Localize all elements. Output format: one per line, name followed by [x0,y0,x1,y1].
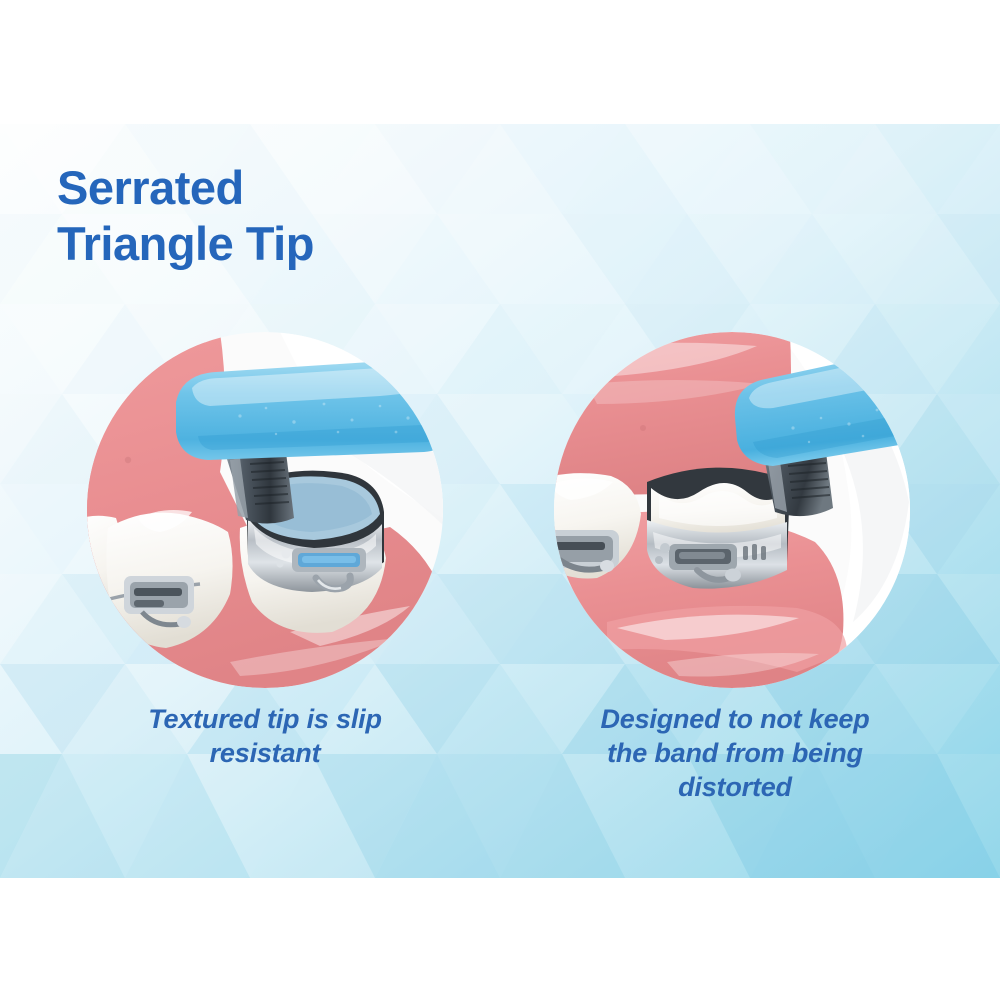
caption-right: Designed to not keep the band from being… [550,702,920,804]
caption-left: Textured tip is slip resistant [85,702,445,770]
photo-right-no-distortion [547,332,917,688]
banner-content-band: Serrated Triangle Tip [0,124,1000,878]
photo-left-illustration [80,332,450,688]
photo-left-textured-tip [80,332,450,688]
photo-right-illustration [547,332,917,688]
product-feature-banner: Serrated Triangle Tip [0,0,1000,1000]
page-title: Serrated Triangle Tip [57,160,517,272]
